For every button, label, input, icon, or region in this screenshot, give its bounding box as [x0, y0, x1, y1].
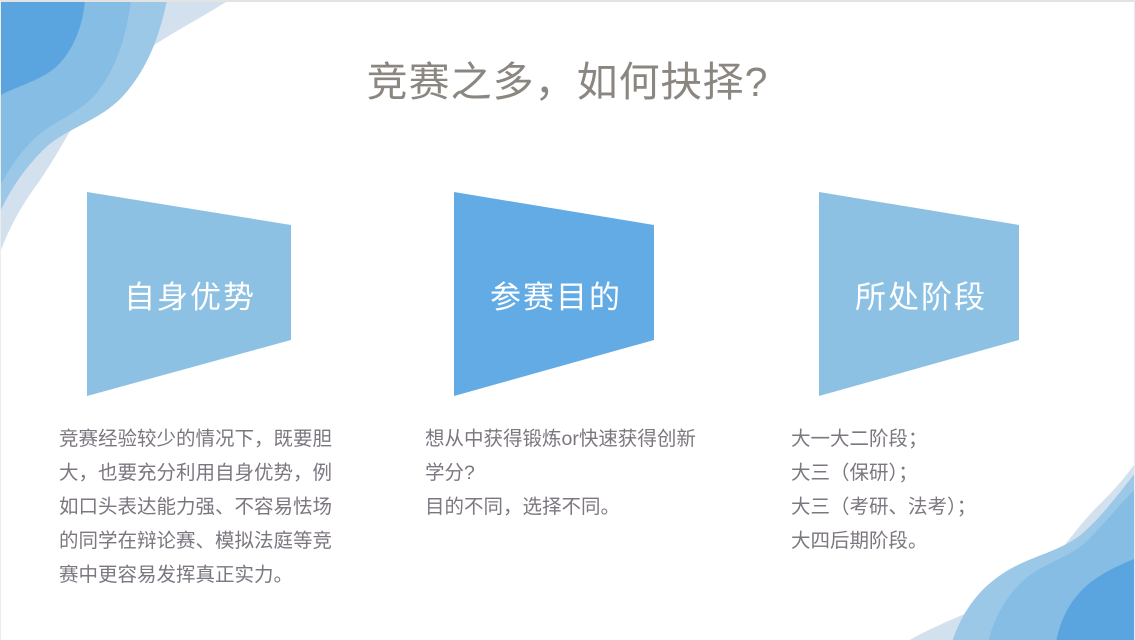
body-paragraph: 想从中获得锻炼or快速获得创新学分?: [425, 422, 715, 490]
body-column-1: 竞赛经验较少的情况下，既要胆大，也要充分利用自身优势，例如口头表达能力强、不容易…: [59, 422, 344, 592]
slide-title: 竞赛之多，如何抉择?: [1, 58, 1134, 107]
arrow-shape-label-2: 参赛目的: [454, 188, 654, 400]
body-paragraph: 大四后期阶段。: [791, 524, 1041, 558]
body-paragraph: 大一大二阶段；: [791, 422, 1041, 456]
arrow-shape-label-1: 自身优势: [87, 188, 291, 400]
arrow-shape-label-3: 所处阶段: [819, 188, 1019, 400]
body-paragraph: 目的不同，选择不同。: [425, 490, 715, 524]
body-column-2: 想从中获得锻炼or快速获得创新学分? 目的不同，选择不同。: [425, 422, 715, 524]
arrow-shape-competition-purpose[interactable]: 参赛目的: [454, 188, 654, 400]
arrow-shape-self-advantage[interactable]: 自身优势: [87, 188, 291, 400]
body-column-3: 大一大二阶段； 大三（保研）； 大三（考研、法考）； 大四后期阶段。: [791, 422, 1041, 558]
body-paragraph: 大三（考研、法考）；: [791, 490, 1041, 524]
presentation-slide: 竞赛之多，如何抉择? 自身优势 参赛目的 所处阶段 竞赛经验较少的情况下，既要胆…: [0, 0, 1135, 640]
body-paragraph: 竞赛经验较少的情况下，既要胆大，也要充分利用自身优势，例如口头表达能力强、不容易…: [59, 422, 344, 592]
body-paragraph: 大三（保研）；: [791, 456, 1041, 490]
arrow-shape-current-stage[interactable]: 所处阶段: [819, 188, 1019, 400]
